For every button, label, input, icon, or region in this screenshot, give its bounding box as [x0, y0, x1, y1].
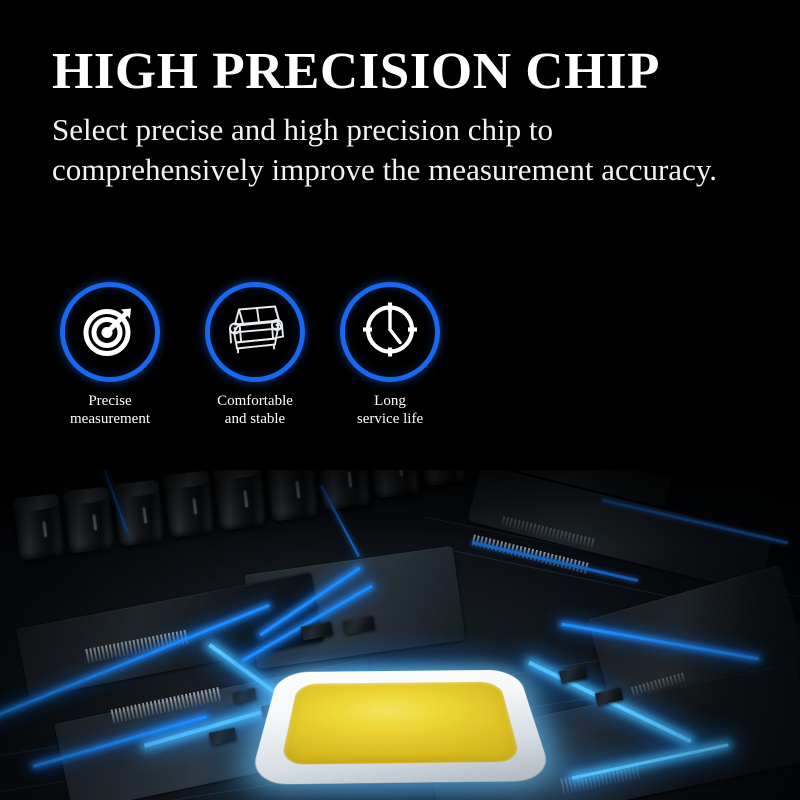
feature-label: Comfortable and stable: [184, 392, 326, 428]
capacitor: [212, 461, 267, 530]
feature-ring: [60, 282, 160, 382]
feature-label: Precise measurement: [39, 392, 181, 428]
capacitor: [12, 493, 65, 560]
page-subtitle: Select precise and high precision chip t…: [52, 110, 768, 190]
chip-gold-surface: [280, 682, 521, 765]
feature-ring: [205, 282, 305, 382]
feature-item-long-service-life[interactable]: Long service life: [319, 272, 461, 428]
feature-item-comfortable-and-stable[interactable]: Comfortable and stable: [184, 272, 326, 428]
target-icon: [81, 301, 139, 364]
promo-banner: HIGH PRECISION CHIP Select precise and h…: [0, 0, 800, 800]
page-title: HIGH PRECISION CHIP: [52, 44, 660, 100]
chip-rim: [249, 670, 554, 785]
feature-ring: [340, 282, 440, 382]
capacitor: [62, 486, 115, 553]
clock-icon: [359, 299, 421, 366]
capacitor: [162, 470, 215, 537]
feature-list: Precise measurement: [0, 272, 800, 452]
feature-item-precise-measurement[interactable]: Precise measurement: [39, 272, 181, 428]
sofa-icon: [223, 303, 287, 362]
golden-microchip: [249, 670, 554, 785]
feature-label: Long service life: [319, 392, 461, 428]
